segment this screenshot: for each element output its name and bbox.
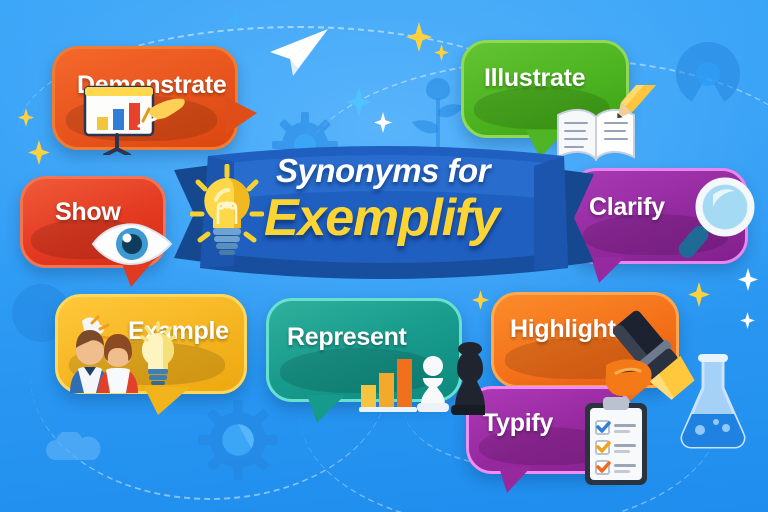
bubble-tail xyxy=(499,467,531,493)
banner-title-line2: Exemplify xyxy=(264,191,584,246)
sparkle-yellow xyxy=(406,22,432,52)
sparkle-yellow xyxy=(434,44,449,61)
clipboard-checklist-icon xyxy=(581,395,653,487)
presentation-board-chart-and-pointing-hand-icon xyxy=(77,85,185,155)
poster-canvas: Demonstrate Illustrate xyxy=(0,0,768,512)
lightbulb-icon xyxy=(190,164,264,260)
sparkle-white xyxy=(374,112,392,133)
synonym-bubble-typify[interactable]: Typify xyxy=(466,386,632,474)
synonym-bubble-illustrate[interactable]: Illustrate xyxy=(461,40,629,138)
black-king xyxy=(451,342,485,415)
highlighter-marker-icon xyxy=(602,307,706,407)
sparkle-yellow xyxy=(688,282,710,307)
sparkle-yellow xyxy=(28,140,50,165)
sparkle-cyan xyxy=(226,10,244,31)
eye-icon xyxy=(89,219,175,269)
banner-title-line1: Synonyms for xyxy=(276,154,584,187)
synonym-bubble-example[interactable]: Example xyxy=(55,294,247,394)
synonym-bubble-show[interactable]: Show xyxy=(20,176,166,268)
bubble-tail xyxy=(307,395,345,423)
synonym-bubble-highlight[interactable]: Highlight xyxy=(491,292,679,388)
sparkle-white xyxy=(740,312,755,329)
sparkle-white xyxy=(738,268,758,291)
synonym-label-typify: Typify xyxy=(483,409,553,438)
synonym-bubble-clarify[interactable]: Clarify xyxy=(570,168,748,264)
synonym-bubble-represent[interactable]: Represent xyxy=(266,298,462,402)
synonym-label-highlight: Highlight xyxy=(510,315,616,344)
synonym-label-clarify: Clarify xyxy=(589,193,665,222)
sparkle-cyan xyxy=(346,86,372,118)
white-pawn xyxy=(417,356,449,412)
magnifying-glass-icon xyxy=(677,177,759,263)
two-people-and-lightbulb-icon xyxy=(64,315,180,393)
banner-text-block: Synonyms for Exemplify xyxy=(264,154,584,274)
bar-chart-and-chess-pieces-icon xyxy=(359,325,485,417)
sparkle-yellow xyxy=(472,290,489,310)
synonym-bubble-demonstrate[interactable]: Demonstrate xyxy=(52,46,238,150)
bubble-tail xyxy=(591,257,625,283)
title-banner: Synonyms for Exemplify xyxy=(172,140,596,288)
sparkle-yellow xyxy=(18,108,34,127)
bubble-tail xyxy=(225,97,257,135)
